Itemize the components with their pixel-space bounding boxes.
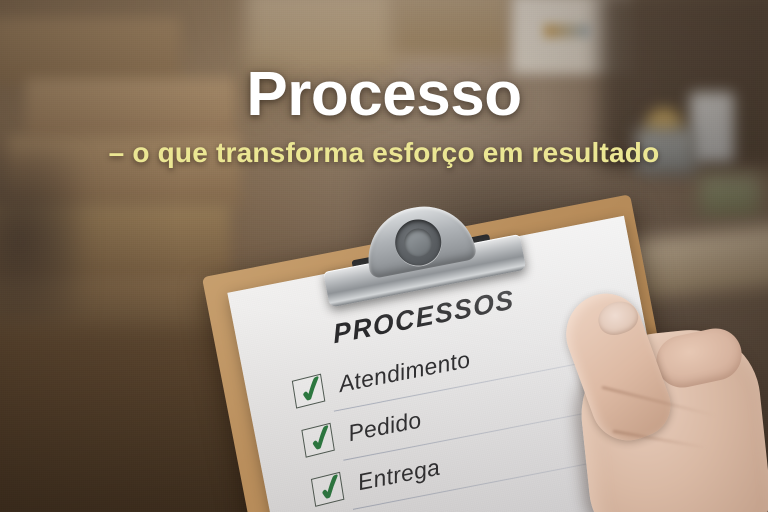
shelf-item (700, 176, 760, 216)
cardboard-box (0, 18, 180, 84)
slide-canvas: PROCESSOS ✓ Atendimento ✓ Pedido ✓ (0, 0, 768, 512)
background-shadow (0, 150, 80, 330)
shelf-item (690, 92, 734, 162)
list-item-label: Pedido (346, 406, 424, 447)
hand (560, 292, 768, 512)
cardboard-box (246, 0, 396, 74)
wall-poster-ink (544, 24, 590, 38)
list-item-label: Atendimento (336, 346, 472, 398)
list-item-label: Entrega (355, 454, 442, 496)
cardboard-box (26, 78, 236, 140)
cardboard-box (392, 0, 512, 56)
shelf-item (636, 128, 696, 174)
